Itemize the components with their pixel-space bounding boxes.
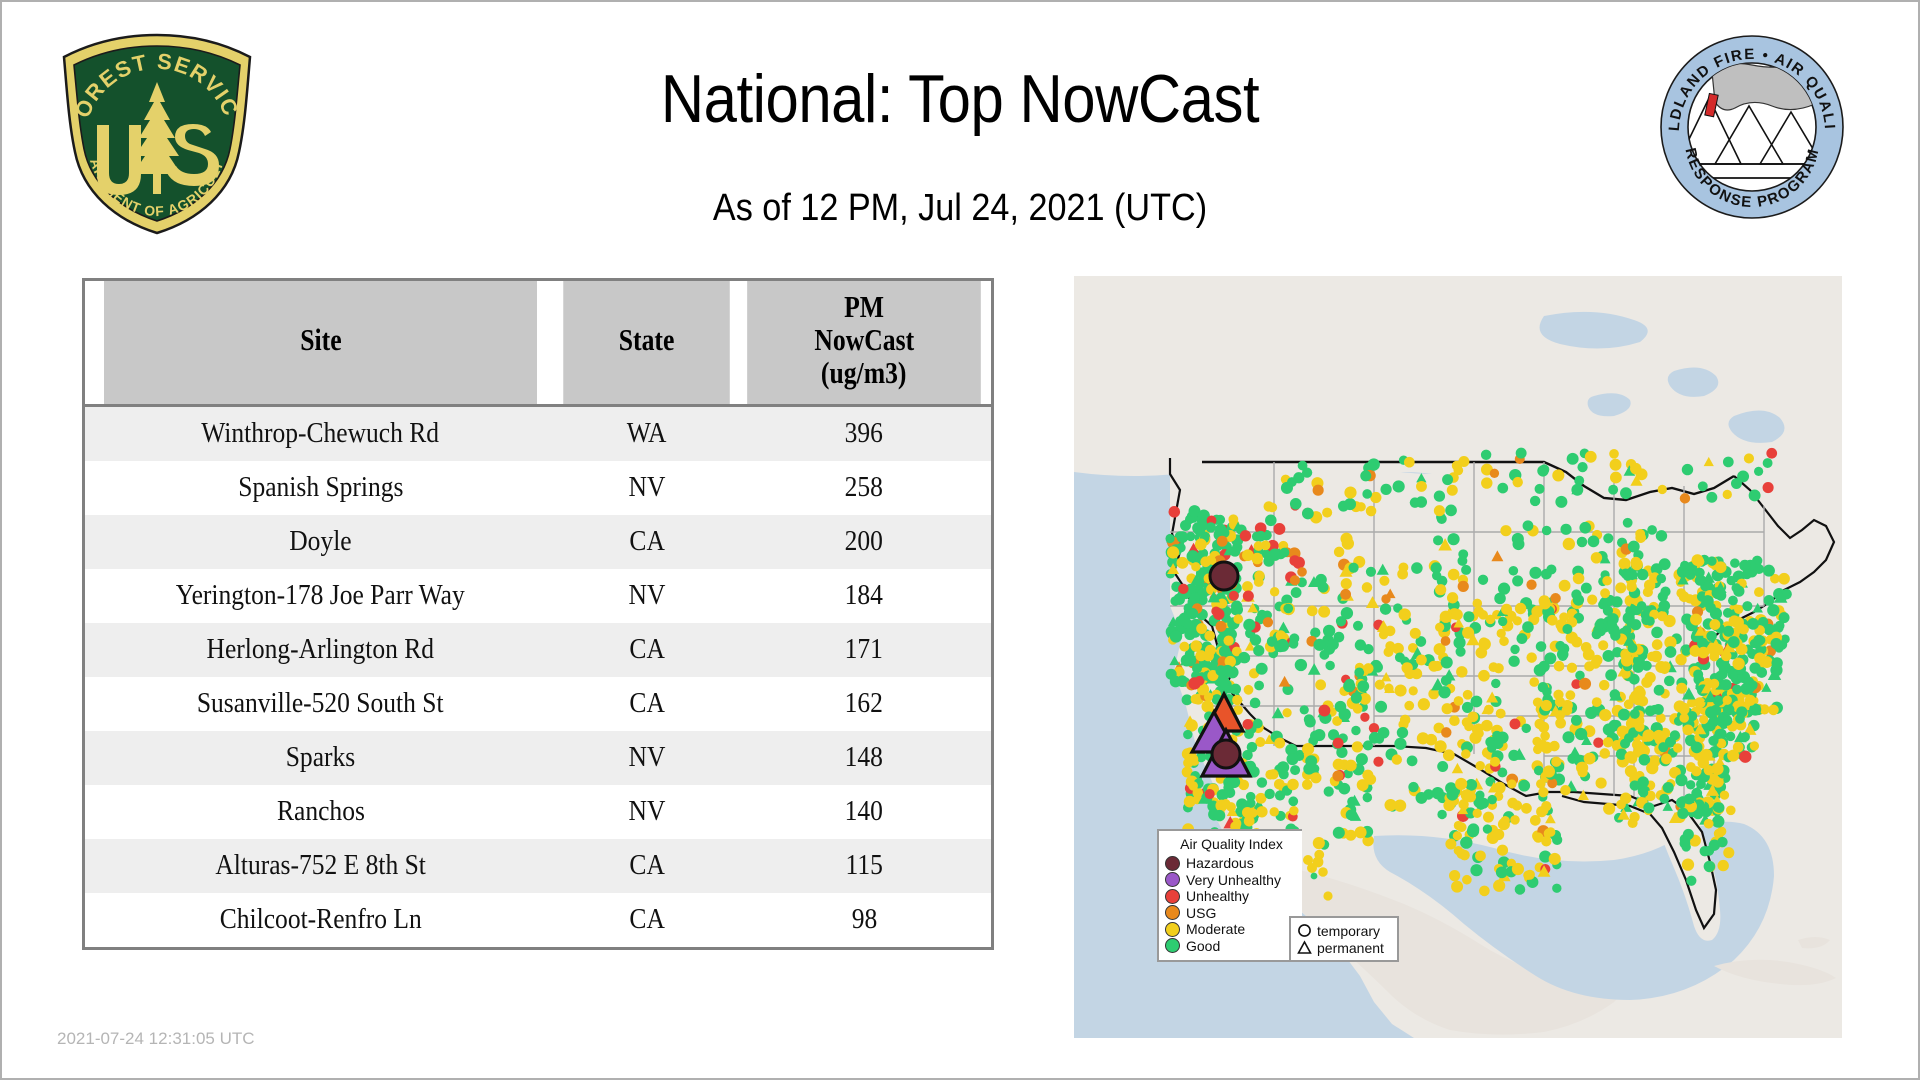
monitor-dot [1555,496,1567,508]
monitor-dot [1253,645,1264,656]
monitor-dot [1651,627,1663,639]
monitor-dot [1599,680,1609,690]
monitor-dot [1698,481,1708,491]
monitor-dot [1512,863,1524,875]
monitor-dot [1628,541,1640,553]
monitor-dot [1763,482,1774,493]
table-row[interactable]: Susanville-520 South StCA162 [85,677,991,731]
monitor-dot [1680,561,1690,571]
monitor-dot [1462,627,1474,639]
monitor-dot [1295,659,1307,671]
monitor-dot [1463,690,1473,700]
site-marker-winthrop-chewuch-rd[interactable] [1210,562,1238,590]
monitor-dot [1379,576,1389,586]
monitor-dot [1452,609,1463,620]
monitor-dot [1603,803,1615,815]
monitor-dot [1455,778,1467,790]
monitor-dot [1602,576,1612,586]
monitor-dot [1187,754,1198,765]
state-cell-label: NV [628,473,665,502]
monitor-dot [1366,567,1376,577]
monitor-dot [1200,556,1211,567]
monitor-dot [1291,587,1302,598]
monitor-dot [1169,506,1181,518]
monitor-dot [1734,605,1743,614]
monitor-dot [1397,569,1408,580]
monitor-dot [1404,457,1415,468]
monitor-dot [1167,546,1179,558]
monitor-dot [1522,724,1532,734]
state-cell: NV [556,461,737,515]
monitor-dot [1297,567,1307,577]
pm-cell-label: 200 [845,527,883,556]
monitor-dot [1652,639,1663,650]
monitor-dot [1435,623,1444,632]
monitor-dot [1571,636,1582,647]
table-row[interactable]: Herlong-Arlington RdCA171 [85,623,991,677]
site-cell-label: Chilcoot-Renfro Ln [220,905,422,934]
monitor-dot [1585,451,1597,463]
monitor-dot [1475,729,1484,738]
monitor-dot [1310,731,1321,742]
monitor-dot [1512,477,1522,487]
monitor-dot [1204,692,1213,701]
monitor-dot [1567,663,1577,673]
monitor-dot [1243,719,1254,730]
monitor-dot [1263,617,1273,627]
monitor-dot [1357,680,1369,692]
monitor-dot [1550,593,1560,603]
permanent-triangle-icon [1296,940,1313,955]
monitor-dot [1461,789,1473,801]
monitor-dot [1201,700,1213,712]
monitor-dot [1183,730,1192,739]
monitor-dot [1639,788,1649,798]
monitor-dot [1231,606,1241,616]
monitor-dot [1228,514,1238,524]
monitor-dot [1351,726,1360,735]
pm-cell-label: 258 [845,473,883,502]
monitor-dot [1221,799,1230,808]
monitor-dot [1723,847,1734,858]
site-cell-label: Winthrop-Chewuch Rd [202,419,440,448]
monitor-dot [1355,826,1367,838]
monitor-dot [1205,645,1216,656]
monitor-dot [1289,555,1300,566]
monitor-dot [1635,532,1646,543]
monitor-dot [1473,809,1482,818]
monitor-dot [1319,650,1329,660]
monitor-dot [1333,827,1345,839]
monitor-dot [1315,679,1326,690]
monitor-dot [1418,698,1430,710]
state-cell: CA [556,677,737,731]
monitor-dot [1230,684,1241,695]
monitor-dot [1513,616,1522,625]
monitor-dot [1293,472,1304,483]
monitor-dot [1384,684,1394,694]
monitor-dot [1289,639,1299,649]
state-cell-label: CA [629,527,664,556]
monitor-dot [1353,704,1363,714]
monitor-dot [1441,636,1451,646]
monitor-dot [1352,741,1363,752]
monitor-dot [1257,777,1267,787]
monitor-dot [1302,508,1314,520]
monitor-dot [1728,596,1738,606]
monitor-dot [1395,652,1405,662]
monitor-dot [1223,782,1233,792]
map-canvas: Air Quality Index HazardousVery Unhealth… [1074,276,1842,1038]
monitor-dot [1749,662,1760,673]
aqi-swatch-icon [1165,905,1180,920]
state-cell: CA [556,839,737,893]
aqi-legend-row-unhealthy: Unhealthy [1165,888,1298,905]
monitor-dot [1754,652,1765,663]
monitor-dot [1372,662,1383,673]
monitor-dot [1407,755,1418,766]
pm-cell: 200 [737,515,991,569]
pm-cell-label: 140 [845,797,883,826]
monitor-dot [1559,580,1571,592]
monitor-dot [1251,553,1263,565]
monitor-dot [1579,678,1591,690]
monitor-dot [1265,789,1275,799]
monitor-dot [1563,538,1575,550]
monitor-dot [1643,587,1653,597]
state-cell-label: NV [628,743,665,772]
monitor-dot [1339,783,1351,795]
monitor-dot [1610,472,1622,484]
monitor-dot [1443,749,1455,761]
monitor-dot [1660,661,1670,671]
monitor-dot [1507,798,1518,809]
monitor-dot [1411,562,1423,574]
monitor-dot [1701,595,1713,607]
monitor-dot [1434,505,1445,516]
legend-row-temporary: temporary [1296,922,1392,939]
monitor-dot [1408,782,1418,792]
monitor-dot [1542,687,1551,696]
monitor-dot [1204,630,1215,641]
monitor-dot [1690,614,1702,626]
monitor-dot [1315,574,1326,585]
monitor-dot [1608,485,1618,495]
monitor-dot [1771,657,1782,668]
aqi-legend-row-very-unhealthy: Very Unhealthy [1165,872,1298,889]
monitor-dot [1423,789,1434,800]
monitor-dot [1521,803,1532,814]
page-title: National: Top NowCast [117,60,1803,138]
monitor-dot [1318,606,1330,618]
monitor-dot [1254,541,1264,551]
monitor-dot [1410,628,1421,639]
monitor-dot [1432,571,1441,580]
monitor-dot [1205,789,1215,799]
monitor-dot [1592,697,1602,707]
monitor-dot [1560,785,1571,796]
monitor-dot [1682,646,1691,655]
monitor-dot [1484,705,1494,715]
monitor-dot [1529,567,1541,579]
monitor-dot [1180,520,1191,531]
monitor-dot [1311,873,1318,880]
monitor-dot [1254,571,1265,582]
monitor-dot [1661,754,1672,765]
table-row[interactable]: DoyleCA200 [85,515,991,569]
monitor-dot [1442,474,1453,485]
monitor-dot [1603,533,1613,543]
monitor-dot [1518,780,1530,792]
monitor-dot [1608,624,1620,636]
monitor-dot [1623,518,1633,528]
monitor-dot [1442,703,1453,714]
monitor-dot [1535,484,1545,494]
monitor-dot [1283,604,1293,614]
aqi-swatch-icon [1165,872,1180,887]
monitor-dot [1720,679,1731,690]
monitor-dot [1219,646,1231,658]
monitor-dot [1540,731,1550,741]
aqi-swatch-icon [1165,889,1180,904]
monitor-dot [1538,787,1548,797]
monitor-dot [1445,505,1457,517]
monitor-dot [1302,743,1314,755]
monitor-dot [1510,645,1519,654]
site-marker-spanish-springs[interactable] [1212,740,1240,768]
monitor-dot [1170,631,1182,643]
monitor-dot [1300,705,1309,714]
monitor-dot [1730,558,1740,568]
monitor-dot [1723,457,1734,468]
monitor-dot [1332,771,1343,782]
monitor-dot [1733,586,1744,597]
monitor-dot [1313,485,1324,496]
monitor-dot [1686,780,1695,789]
monitor-dot [1448,569,1460,581]
monitor-dot [1726,732,1736,742]
aqi-monitor-map[interactable]: Air Quality Index HazardousVery Unhealth… [1074,276,1842,1038]
monitor-dot [1565,690,1575,700]
pm-cell: 184 [737,569,991,623]
page-subtitle: As of 12 PM, Jul 24, 2021 (UTC) [98,187,1822,230]
table-row[interactable]: SparksNV148 [85,731,991,785]
monitor-dot [1453,831,1462,840]
monitor-dot [1274,738,1285,749]
monitor-dot [1625,751,1637,763]
monitor-dot [1354,667,1364,677]
monitor-dot [1700,846,1710,856]
monitor-dot [1409,686,1418,695]
monitor-dot [1191,694,1201,704]
monitor-dot [1603,606,1613,616]
monitor-dot [1676,683,1687,694]
monitor-dot [1708,736,1718,746]
aqi-legend-title: Air Quality Index [1165,836,1298,852]
monitor-dot [1680,493,1690,503]
monitor-dot [1679,703,1690,714]
monitor-dot [1243,619,1255,631]
monitor-dot [1365,774,1376,785]
monitor-dot [1362,489,1372,499]
monitor-dot [1369,723,1379,733]
monitor-dot [1526,580,1536,590]
aqi-legend-label: USG [1186,906,1216,920]
monitor-dot [1536,779,1546,789]
monitor-dot [1541,569,1552,580]
monitor-dot [1189,592,1199,602]
monitor-dot [1275,790,1285,800]
monitor-dot [1723,626,1734,637]
monitor-dot [1416,654,1427,665]
monitor-dot [1539,595,1550,606]
table-row[interactable]: Chilcoot-Renfro LnCA98 [85,893,991,947]
monitor-dot [1238,652,1249,663]
pm-cell: 396 [737,405,991,461]
monitor-dot [1510,815,1520,825]
monitor-dot [1593,737,1603,747]
column-header-site-label: Site [300,324,341,357]
monitor-dot [1579,522,1591,534]
monitor-dot [1722,715,1733,726]
table-row[interactable]: Yerington-178 Joe Parr WayNV184 [85,569,991,623]
monitor-dot [1380,484,1391,495]
monitor-dot [1526,652,1536,662]
monitor-dot [1621,655,1633,667]
monitor-dot [1468,711,1479,722]
monitor-dot [1721,651,1732,662]
monitor-dot [1682,464,1693,475]
monitor-dot [1437,761,1448,772]
monitor-dot [1631,559,1643,571]
column-header-pm-line3: (ug/m3) [821,357,907,390]
aqi-legend-label: Very Unhealthy [1186,873,1281,887]
monitor-dot [1516,633,1527,644]
monitor-dot [1549,741,1560,752]
monitor-dot [1493,880,1505,892]
site-cell: Doyle [85,515,556,569]
table-row[interactable]: Alturas-752 E 8th StCA115 [85,839,991,893]
monitor-dot [1745,695,1756,706]
monitor-dot [1686,762,1696,772]
monitor-dot [1543,765,1555,777]
monitor-dot [1190,640,1201,651]
column-header-pm-line2: NowCast [814,324,914,357]
site-cell-label: Susanville-520 South St [197,689,444,718]
monitor-dot [1577,537,1587,547]
monitor-dot [1497,483,1508,494]
monitor-dot [1709,841,1719,851]
monitor-dot [1183,619,1193,629]
monitor-dot [1768,705,1779,716]
monitor-dot [1747,618,1759,630]
monitor-dot [1213,609,1224,620]
monitor-dot [1744,681,1756,693]
monitor-dot [1467,825,1479,837]
monitor-dot [1360,470,1371,481]
monitor-dot [1694,568,1704,578]
table-row[interactable]: RanchosNV140 [85,785,991,839]
monitor-dot [1313,857,1324,868]
monitor-dot [1739,751,1751,763]
monitor-dot [1650,651,1662,663]
monitor-dot [1610,459,1622,471]
monitor-dot [1560,524,1571,535]
monitor-dot [1516,448,1527,459]
monitor-dot [1628,643,1638,653]
monitor-dot [1581,642,1592,653]
monitor-dot [1529,677,1539,687]
monitor-dot [1280,548,1290,558]
monitor-dot [1344,487,1356,499]
monitor-dot [1554,661,1565,672]
monitor-dot [1270,807,1279,816]
monitor-dot [1247,742,1258,753]
monitor-dot [1699,715,1708,724]
monitor-dot [1605,669,1617,681]
monitor-dot [1496,709,1506,719]
table-row[interactable]: Spanish SpringsNV258 [85,461,991,515]
monitor-dot [1273,523,1285,535]
monitor-dot [1416,481,1427,492]
monitor-dot [1170,596,1180,606]
monitor-dot [1340,589,1351,600]
monitor-dot [1449,870,1460,881]
monitor-dot [1196,623,1207,634]
monitor-dot [1718,860,1729,871]
state-cell: CA [556,893,737,947]
monitor-dot [1712,815,1724,827]
aqi-legend-label: Moderate [1186,922,1245,936]
monitor-dot [1656,574,1666,584]
monitor-dot [1715,561,1727,573]
monitor-dot [1440,611,1452,623]
monitor-dot [1345,679,1355,689]
monitor-dot [1452,461,1462,471]
monitor-dot [1355,639,1366,650]
monitor-dot [1268,769,1278,779]
monitor-dot [1547,778,1557,788]
monitor-dot [1530,815,1541,826]
monitor-dot [1555,641,1565,651]
monitor-dot [1709,679,1719,689]
monitor-dot [1218,675,1230,687]
pm-cell-label: 98 [851,905,877,934]
monitor-dot [1456,647,1466,657]
monitor-dot [1497,845,1508,856]
monitor-dot [1490,469,1499,478]
monitor-dot [1647,525,1657,535]
monitor-dot [1178,584,1188,594]
monitor-dot [1184,796,1196,808]
monitor-dot [1400,715,1411,726]
monitor-dot [1646,762,1658,774]
aqi-swatch-icon [1165,922,1180,937]
monitor-dot [1619,558,1631,570]
legend-label-temporary: temporary [1317,924,1380,938]
monitor-dot [1611,596,1622,607]
monitor-dot [1256,806,1267,817]
monitor-dot [1630,691,1640,701]
monitor-dot [1242,581,1253,592]
monitor-dot [1754,587,1764,597]
pm-cell: 162 [737,677,991,731]
monitor-dot [1290,575,1300,585]
monitor-dot [1584,753,1596,765]
table-row[interactable]: Winthrop-Chewuch RdWA396 [85,405,991,461]
monitor-dot [1340,533,1352,545]
state-cell-label: CA [629,905,664,934]
